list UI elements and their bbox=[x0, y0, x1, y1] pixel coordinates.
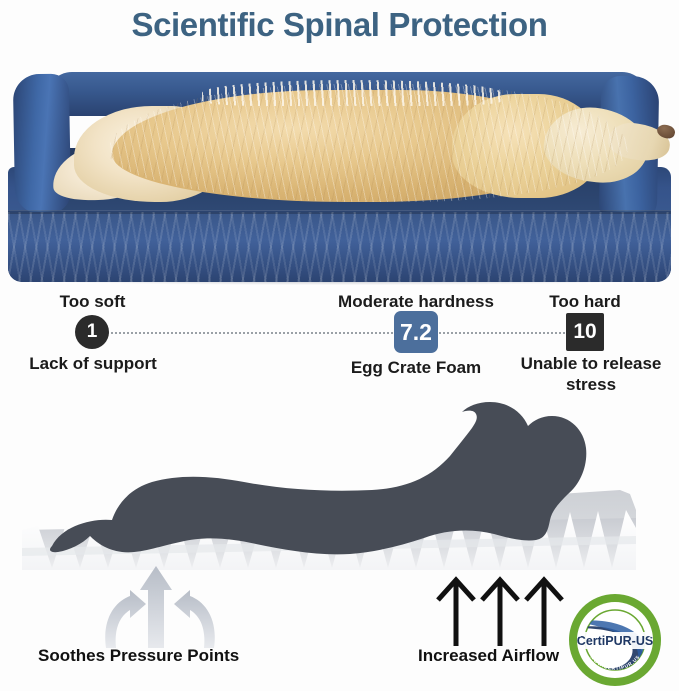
dog-lying-silhouette bbox=[50, 402, 586, 554]
page-title: Scientific Spinal Protection bbox=[0, 6, 679, 44]
airflow-arrows bbox=[438, 580, 562, 646]
hardness-scale: Too soft 1 Lack of support Moderate hard… bbox=[0, 292, 679, 394]
scale-right-bottom-label: Unable to release stress bbox=[510, 354, 672, 395]
scale-right-top-label: Too hard bbox=[505, 292, 665, 312]
scale-middle-top-label: Moderate hardness bbox=[300, 292, 532, 312]
scale-marker-1: 1 bbox=[75, 315, 109, 349]
label-increased-airflow: Increased Airflow bbox=[418, 646, 559, 666]
product-photo bbox=[0, 62, 679, 287]
scale-middle-bottom-label: Egg Crate Foam bbox=[312, 358, 520, 378]
dog-fur-fluff bbox=[202, 80, 502, 106]
label-soothes-pressure-points: Soothes Pressure Points bbox=[38, 646, 239, 666]
scale-left-top-label: Too soft bbox=[20, 292, 165, 312]
scale-marker-7-2: 7.2 bbox=[394, 311, 438, 353]
badge-brand-text: CertiPUR-US bbox=[577, 634, 653, 648]
scale-left-bottom-label: Lack of support bbox=[8, 354, 178, 374]
scale-dotted-line bbox=[92, 332, 584, 334]
bed-quilted-panel bbox=[8, 212, 671, 282]
scale-marker-10: 10 bbox=[566, 313, 604, 351]
dog-photo bbox=[52, 80, 632, 206]
bed-seam bbox=[8, 210, 671, 214]
pressure-arrows bbox=[105, 566, 215, 648]
certipur-us-badge: CertiPUR-US CONTAINS CERTIFIED FLEXIBLE … bbox=[567, 592, 663, 688]
